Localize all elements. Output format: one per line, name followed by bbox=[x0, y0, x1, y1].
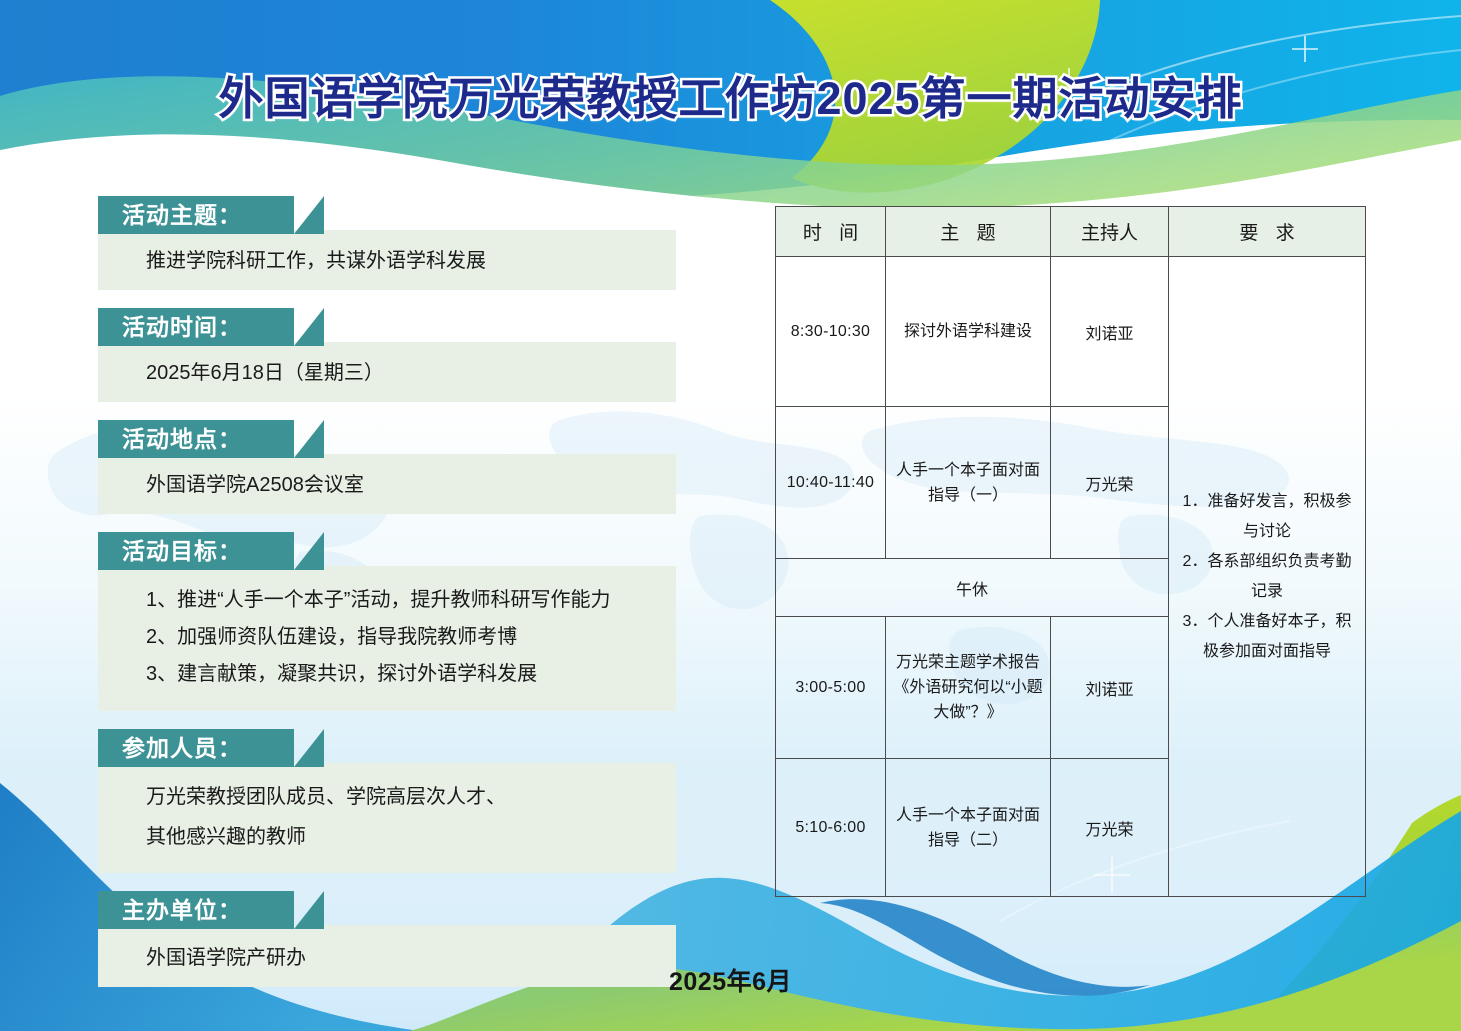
section-organizer-label: 主办单位： bbox=[98, 891, 294, 929]
goal-item: 2、加强师资队伍建设，指导我院教师考博 bbox=[146, 619, 652, 656]
column-header-requirements: 要 求 bbox=[1169, 207, 1366, 257]
section-theme-label: 活动主题： bbox=[98, 196, 294, 234]
poster-canvas: 外国语学院万光荣教授工作坊2025第一期活动安排 活动主题： 推进学院科研工作，… bbox=[0, 0, 1461, 1031]
column-header-time: 时 间 bbox=[776, 207, 886, 257]
cell-topic: 万光荣主题学术报告《外语研究何以“小题大做”？》 bbox=[886, 617, 1051, 759]
schedule-table-container: 时 间 主 题 主持人 要 求 8:30-10:30 探讨外语学科建设 刘诺亚 … bbox=[775, 206, 1365, 897]
footer-date: 2025年6月 bbox=[0, 962, 1461, 998]
participant-line: 万光荣教授团队成员、学院高层次人才、 bbox=[146, 777, 652, 817]
cell-topic: 探讨外语学科建设 bbox=[886, 257, 1051, 407]
cell-host: 万光荣 bbox=[1051, 407, 1169, 559]
cell-time: 8:30-10:30 bbox=[776, 257, 886, 407]
section-theme: 活动主题： 推进学院科研工作，共谋外语学科发展 bbox=[98, 196, 676, 290]
cell-topic: 人手一个本子面对面指导（一） bbox=[886, 407, 1051, 559]
cell-time: 3:00-5:00 bbox=[776, 617, 886, 759]
column-header-topic: 主 题 bbox=[886, 207, 1051, 257]
goal-item: 3、建言献策，凝聚共识，探讨外语学科发展 bbox=[146, 656, 652, 693]
participant-line: 其他感兴趣的教师 bbox=[146, 817, 652, 857]
requirement-item: 2．各系部组织负责考勤记录 bbox=[1175, 547, 1359, 607]
column-header-host: 主持人 bbox=[1051, 207, 1169, 257]
theme-line: 推进学院科研工作，共谋外语学科发展 bbox=[146, 244, 652, 278]
table-row: 8:30-10:30 探讨外语学科建设 刘诺亚 1．准备好发言，积极参与讨论 2… bbox=[776, 257, 1366, 407]
section-participants-label: 参加人员： bbox=[98, 729, 294, 767]
cell-host: 刘诺亚 bbox=[1051, 617, 1169, 759]
section-theme-body: 推进学院科研工作，共谋外语学科发展 bbox=[98, 230, 676, 290]
section-goals-label: 活动目标： bbox=[98, 532, 294, 570]
place-line: 外国语学院A2508会议室 bbox=[146, 468, 652, 502]
section-goals-body: 1、推进“人手一个本子”活动，提升教师科研写作能力 2、加强师资队伍建设，指导我… bbox=[98, 566, 676, 711]
section-participants-body: 万光荣教授团队成员、学院高层次人才、 其他感兴趣的教师 bbox=[98, 763, 676, 873]
requirement-item: 1．准备好发言，积极参与讨论 bbox=[1175, 487, 1359, 547]
section-place-body: 外国语学院A2508会议室 bbox=[98, 454, 676, 514]
section-goals: 活动目标： 1、推进“人手一个本子”活动，提升教师科研写作能力 2、加强师资队伍… bbox=[98, 532, 676, 711]
goal-item: 1、推进“人手一个本子”活动，提升教师科研写作能力 bbox=[146, 582, 652, 619]
table-header-row: 时 间 主 题 主持人 要 求 bbox=[776, 207, 1366, 257]
cell-lunch-break: 午休 bbox=[776, 559, 1169, 617]
time-line: 2025年6月18日（星期三） bbox=[146, 356, 652, 390]
section-time-label: 活动时间： bbox=[98, 308, 294, 346]
page-title: 外国语学院万光荣教授工作坊2025第一期活动安排 bbox=[218, 62, 1242, 127]
cell-time: 5:10-6:00 bbox=[776, 759, 886, 897]
cell-topic: 人手一个本子面对面指导（二） bbox=[886, 759, 1051, 897]
section-place: 活动地点： 外国语学院A2508会议室 bbox=[98, 420, 676, 514]
info-panel: 活动主题： 推进学院科研工作，共谋外语学科发展 活动时间： 2025年6月18日… bbox=[98, 196, 676, 987]
schedule-table: 时 间 主 题 主持人 要 求 8:30-10:30 探讨外语学科建设 刘诺亚 … bbox=[775, 206, 1366, 897]
cell-time: 10:40-11:40 bbox=[776, 407, 886, 559]
section-time: 活动时间： 2025年6月18日（星期三） bbox=[98, 308, 676, 402]
requirement-item: 3．个人准备好本子，积极参加面对面指导 bbox=[1175, 607, 1359, 667]
cell-host: 万光荣 bbox=[1051, 759, 1169, 897]
section-participants: 参加人员： 万光荣教授团队成员、学院高层次人才、 其他感兴趣的教师 bbox=[98, 729, 676, 873]
cell-requirements: 1．准备好发言，积极参与讨论 2．各系部组织负责考勤记录 3．个人准备好本子，积… bbox=[1169, 257, 1366, 897]
poster-title-container: 外国语学院万光荣教授工作坊2025第一期活动安排 bbox=[0, 62, 1461, 127]
section-place-label: 活动地点： bbox=[98, 420, 294, 458]
cell-host: 刘诺亚 bbox=[1051, 257, 1169, 407]
section-time-body: 2025年6月18日（星期三） bbox=[98, 342, 676, 402]
